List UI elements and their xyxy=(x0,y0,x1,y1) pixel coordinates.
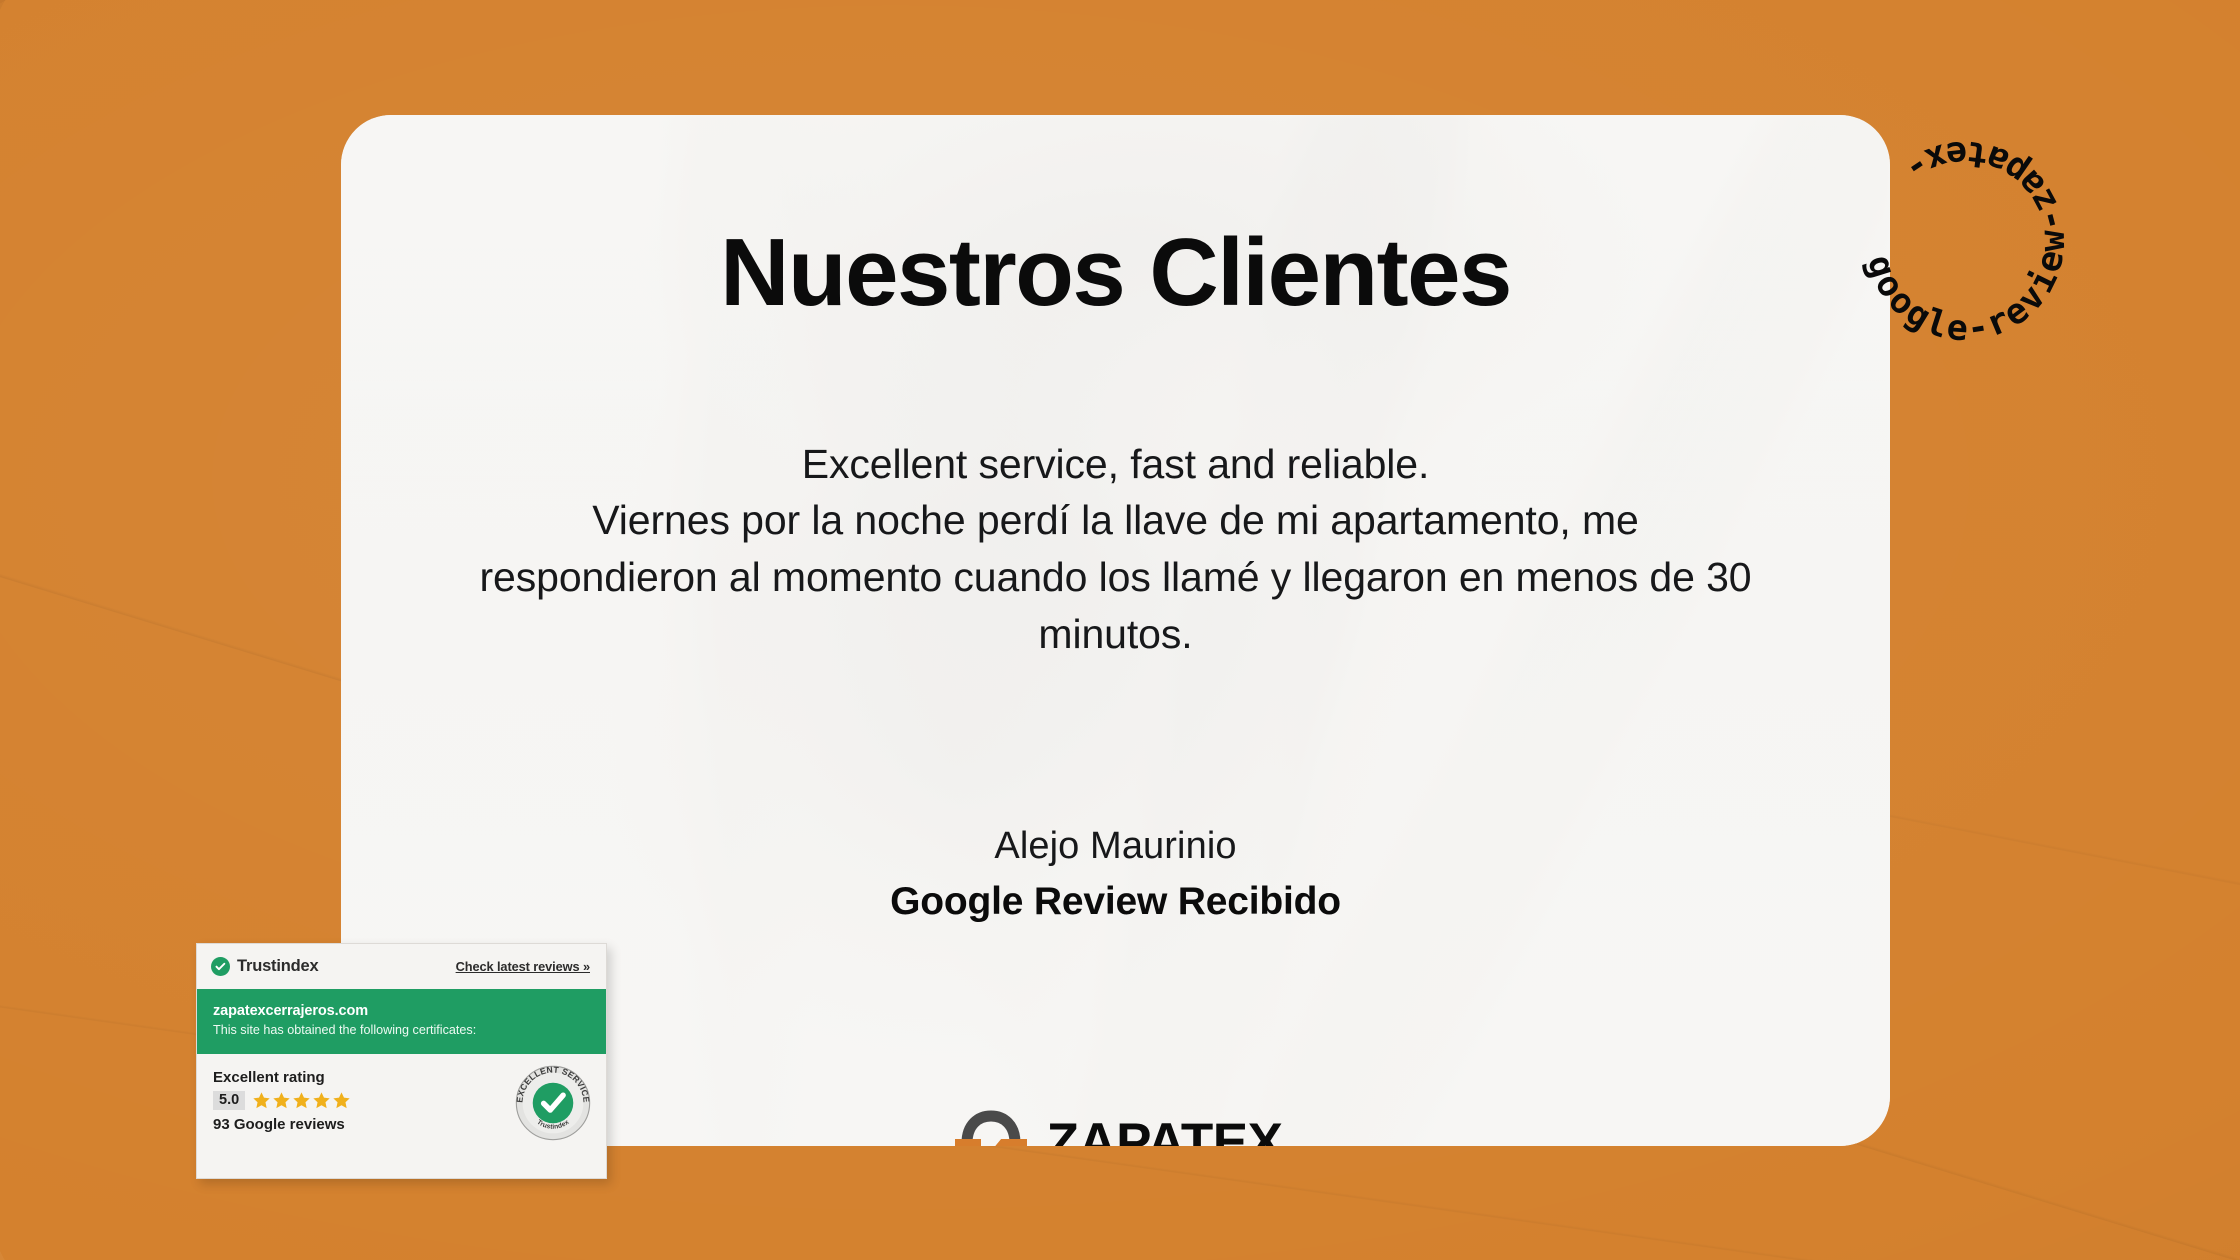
star-icon xyxy=(272,1091,291,1110)
trustindex-brand-label: Trustindex xyxy=(237,957,318,976)
zapatex-padlock-z-mark xyxy=(949,1109,1033,1146)
trustindex-widget[interactable]: Trustindex Check latest reviews » zapate… xyxy=(196,943,607,1179)
circular-badge-textpath: google-review-zapatex- xyxy=(1858,132,2073,349)
quote-line: minutos. xyxy=(471,606,1761,663)
quote-line: Excellent service, fast and reliable. xyxy=(471,436,1761,493)
star-icon xyxy=(332,1091,351,1110)
attribution: Alejo Maurinio Google Review Recibido xyxy=(341,825,1890,924)
star-icon xyxy=(312,1091,331,1110)
author-name: Alejo Maurinio xyxy=(341,825,1890,868)
check-latest-reviews-link[interactable]: Check latest reviews » xyxy=(456,959,590,974)
trustindex-rating-body: Excellent rating 5.0 93 Google reviews xyxy=(197,1054,606,1178)
author-role: Google Review Recibido xyxy=(341,880,1890,924)
testimonial-quote: Excellent service, fast and reliable. Vi… xyxy=(471,436,1761,662)
circular-badge-text: google-review-zapatex- xyxy=(1858,132,2073,349)
excellent-service-seal: EXCELLENT SERVICE Trustindex xyxy=(514,1064,592,1142)
rating-stars xyxy=(252,1091,351,1110)
verified-check-icon xyxy=(211,957,230,976)
trustindex-header: Trustindex Check latest reviews » xyxy=(197,944,606,989)
star-icon xyxy=(252,1091,271,1110)
site-description: This site has obtained the following cer… xyxy=(213,1023,590,1037)
quote-line: Viernes por la noche perdí la llave de m… xyxy=(471,492,1761,549)
star-icon xyxy=(292,1091,311,1110)
testimonial-graphic: Nuestros Clientes Excellent service, fas… xyxy=(0,0,2240,1260)
site-domain: zapatexcerrajeros.com xyxy=(213,1003,590,1019)
rating-score-badge: 5.0 xyxy=(213,1091,245,1110)
logo-wordmark: ZAPATEX xyxy=(1047,1116,1283,1146)
trustindex-brand: Trustindex xyxy=(211,957,318,976)
trustindex-domain-banner: zapatexcerrajeros.com This site has obta… xyxy=(197,989,606,1054)
circular-text-badge: google-review-zapatex- xyxy=(1834,110,2096,372)
page-title: Nuestros Clientes xyxy=(720,223,1511,324)
quote-line: respondieron al momento cuando los llamé… xyxy=(471,549,1761,606)
